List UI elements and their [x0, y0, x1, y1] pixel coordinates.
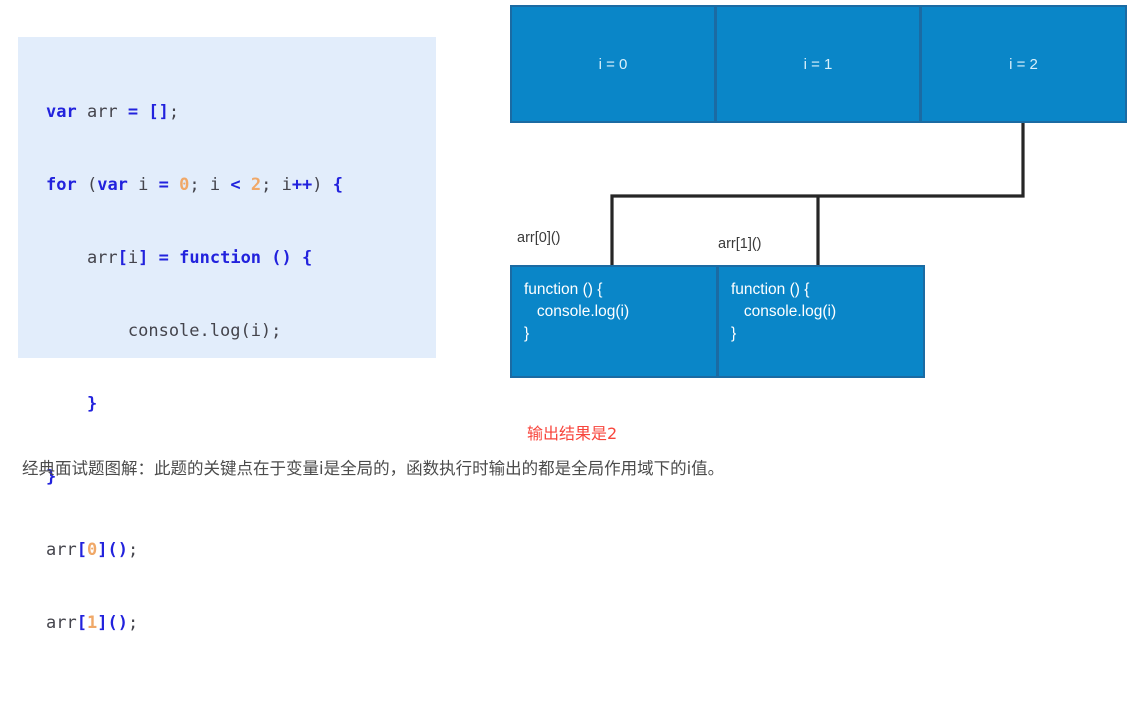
function-body-line-3: }	[731, 323, 923, 345]
function-body-line-1: function () {	[524, 279, 716, 301]
iteration-label: i = 0	[599, 56, 628, 73]
code-token-plain: arr	[46, 613, 77, 633]
code-token-punctuation: ]()	[97, 540, 128, 560]
call-label-arr0: arr[0]()	[517, 230, 561, 246]
code-line-7: arr[0]();	[46, 532, 343, 569]
closure-diagram: i = 0 i = 1 i = 2 arr[0]() arr[1]() func…	[0, 0, 1136, 400]
function-body-line-2: console.log(i)	[524, 301, 716, 323]
call-label-arr1: arr[1]()	[718, 236, 762, 252]
code-token-punctuation: [	[77, 540, 87, 560]
code-token-number: 1	[87, 613, 97, 633]
iteration-box-0: i = 0	[510, 5, 716, 123]
result-caption: 输出结果是2	[527, 420, 617, 444]
code-token-plain: arr	[46, 540, 77, 560]
iteration-box-2: i = 2	[920, 5, 1127, 123]
code-token-punctuation: ]()	[97, 613, 128, 633]
iteration-label: i = 2	[1009, 56, 1038, 73]
code-token-number: 0	[87, 540, 97, 560]
iteration-label: i = 1	[804, 56, 833, 73]
function-body-line-3: }	[524, 323, 716, 345]
code-token-punctuation: [	[77, 613, 87, 633]
code-token-plain: ;	[128, 540, 138, 560]
code-line-8: arr[1]();	[46, 605, 343, 642]
function-body-line-2: console.log(i)	[731, 301, 923, 323]
explanation-text: 经典面试题图解：此题的关键点在于变量i是全局的，函数执行时输出的都是全局作用域下…	[22, 455, 724, 479]
function-box-0: function () { console.log(i) }	[510, 265, 718, 378]
function-body-line-1: function () {	[731, 279, 923, 301]
iteration-box-1: i = 1	[715, 5, 921, 123]
code-token-plain: ;	[128, 613, 138, 633]
function-box-1: function () { console.log(i) }	[717, 265, 925, 378]
